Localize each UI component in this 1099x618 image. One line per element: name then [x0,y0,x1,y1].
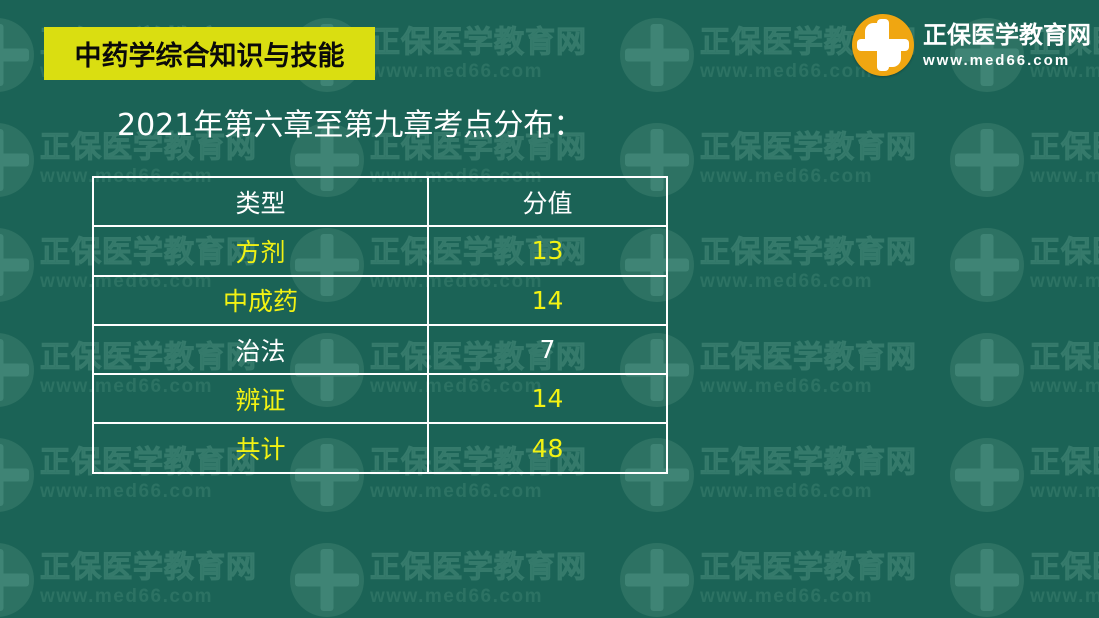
watermark-url: www.med66.com [700,587,917,606]
cross-circle-icon [852,14,914,76]
watermark-url: www.med66.com [700,272,917,291]
cross-circle-icon [0,333,34,407]
watermark-tile: 正保医学教育网www.med66.com [0,527,290,618]
page-title: 中药学综合知识与技能 [75,34,345,73]
brand-name: 正保医学教育网 [923,23,1091,47]
cross-circle-icon [950,123,1024,197]
cross-circle-icon [0,123,34,197]
watermark-brand-name: 正保医学教育网 [1030,553,1099,583]
row-score-value: 14 [428,374,667,423]
watermark-text: 正保医学教育网www.med66.com [1030,343,1099,396]
watermark-brand-name: 正保医学教育网 [1030,448,1099,478]
watermark-text: 正保医学教育网www.med66.com [370,28,587,81]
cross-circle-icon [0,18,34,92]
watermark-brand-name: 正保医学教育网 [700,553,917,583]
row-score-value: 14 [428,276,667,325]
cross-circle-icon [290,543,364,617]
watermark-text: 正保医学教育网www.med66.com [700,238,917,291]
row-type-label: 辨证 [93,374,428,423]
watermark-tile: 正保医学教育网www.med66.com [290,527,620,618]
watermark-tile: 正保医学教育网www.med66.com [620,107,950,212]
watermark-brand-name: 正保医学教育网 [40,553,257,583]
cross-circle-icon [950,228,1024,302]
watermark-tile: 正保医学教育网www.med66.com [620,212,950,317]
watermark-text: 正保医学教育网www.med66.com [40,553,257,606]
watermark-url: www.med66.com [40,587,257,606]
cross-circle-icon [620,543,694,617]
title-banner: 中药学综合知识与技能 [44,27,375,80]
cross-circle-icon [0,543,34,617]
watermark-text: 正保医学教育网www.med66.com [700,343,917,396]
row-type-label: 中成药 [93,276,428,325]
watermark-brand-name: 正保医学教育网 [700,448,917,478]
watermark-url: www.med66.com [1030,587,1099,606]
watermark-tile: 正保医学教育网www.med66.com [620,422,950,527]
brand-url: www.med66.com [923,53,1091,68]
exam-points-table: 类型 分值 方剂 13 中成药 14 治法 7 辨证 14 共计 48 [92,176,668,474]
watermark-url: www.med66.com [370,482,587,501]
table-header-row: 类型 分值 [93,177,667,226]
row-score-value: 48 [428,423,667,472]
cross-circle-icon [950,438,1024,512]
watermark-brand-name: 正保医学教育网 [700,238,917,268]
cross-circle-icon [0,228,34,302]
watermark-text: 正保医学教育网www.med66.com [1030,133,1099,186]
watermark-tile: 正保医学教育网www.med66.com [620,317,950,422]
column-header-type: 类型 [93,177,428,226]
watermark-brand-name: 正保医学教育网 [1030,343,1099,373]
watermark-tile: 正保医学教育网www.med66.com [950,107,1099,212]
watermark-text: 正保医学教育网www.med66.com [1030,448,1099,501]
table-row: 辨证 14 [93,374,667,423]
row-type-label: 共计 [93,423,428,472]
watermark-text: 正保医学教育网www.med66.com [370,553,587,606]
row-score-value: 7 [428,325,667,374]
logo-cross-horizontal [857,39,909,51]
cross-circle-icon [950,333,1024,407]
cross-circle-icon [620,18,694,92]
table-row: 中成药 14 [93,276,667,325]
watermark-text: 正保医学教育网www.med66.com [700,553,917,606]
row-score-value: 13 [428,226,667,275]
watermark-url: www.med66.com [700,377,917,396]
table-row: 治法 7 [93,325,667,374]
watermark-tile: 正保医学教育网www.med66.com [950,212,1099,317]
table-row: 方剂 13 [93,226,667,275]
watermark-tile: 正保医学教育网www.med66.com [950,0,1099,2]
watermark-text: 正保医学教育网www.med66.com [700,133,917,186]
subtitle-text: 2021年第六章至第九章考点分布： [117,100,583,144]
watermark-url: www.med66.com [1030,272,1099,291]
watermark-tile: 正保医学教育网www.med66.com [950,422,1099,527]
watermark-tile: 正保医学教育网www.med66.com [950,317,1099,422]
row-type-label: 治法 [93,325,428,374]
watermark-text: 正保医学教育网www.med66.com [1030,238,1099,291]
brand-logo: 正保医学教育网 www.med66.com [852,14,1091,76]
brand-logo-text: 正保医学教育网 www.med66.com [923,23,1091,68]
watermark-tile: 正保医学教育网www.med66.com [0,0,290,2]
watermark-url: www.med66.com [700,482,917,501]
watermark-tile: 正保医学教育网www.med66.com [290,0,620,2]
watermark-text: 正保医学教育网www.med66.com [1030,553,1099,606]
watermark-tile: 正保医学教育网www.med66.com [620,0,950,2]
watermark-tile: 正保医学教育网www.med66.com [620,527,950,618]
watermark-url: www.med66.com [1030,482,1099,501]
watermark-text: 正保医学教育网www.med66.com [700,448,917,501]
watermark-brand-name: 正保医学教育网 [1030,238,1099,268]
watermark-tile: 正保医学教育网www.med66.com [950,527,1099,618]
column-header-score: 分值 [428,177,667,226]
cross-circle-icon [0,438,34,512]
watermark-url: www.med66.com [1030,377,1099,396]
watermark-brand-name: 正保医学教育网 [1030,133,1099,163]
watermark-url: www.med66.com [370,62,587,81]
watermark-brand-name: 正保医学教育网 [370,28,587,58]
watermark-url: www.med66.com [40,482,257,501]
watermark-brand-name: 正保医学教育网 [370,553,587,583]
row-type-label: 方剂 [93,226,428,275]
watermark-brand-name: 正保医学教育网 [700,343,917,373]
watermark-url: www.med66.com [370,587,587,606]
table-body: 类型 分值 方剂 13 中成药 14 治法 7 辨证 14 共计 48 [93,177,667,473]
cross-circle-icon [950,543,1024,617]
watermark-url: www.med66.com [700,167,917,186]
table-total-row: 共计 48 [93,423,667,472]
watermark-brand-name: 正保医学教育网 [700,133,917,163]
watermark-url: www.med66.com [1030,167,1099,186]
